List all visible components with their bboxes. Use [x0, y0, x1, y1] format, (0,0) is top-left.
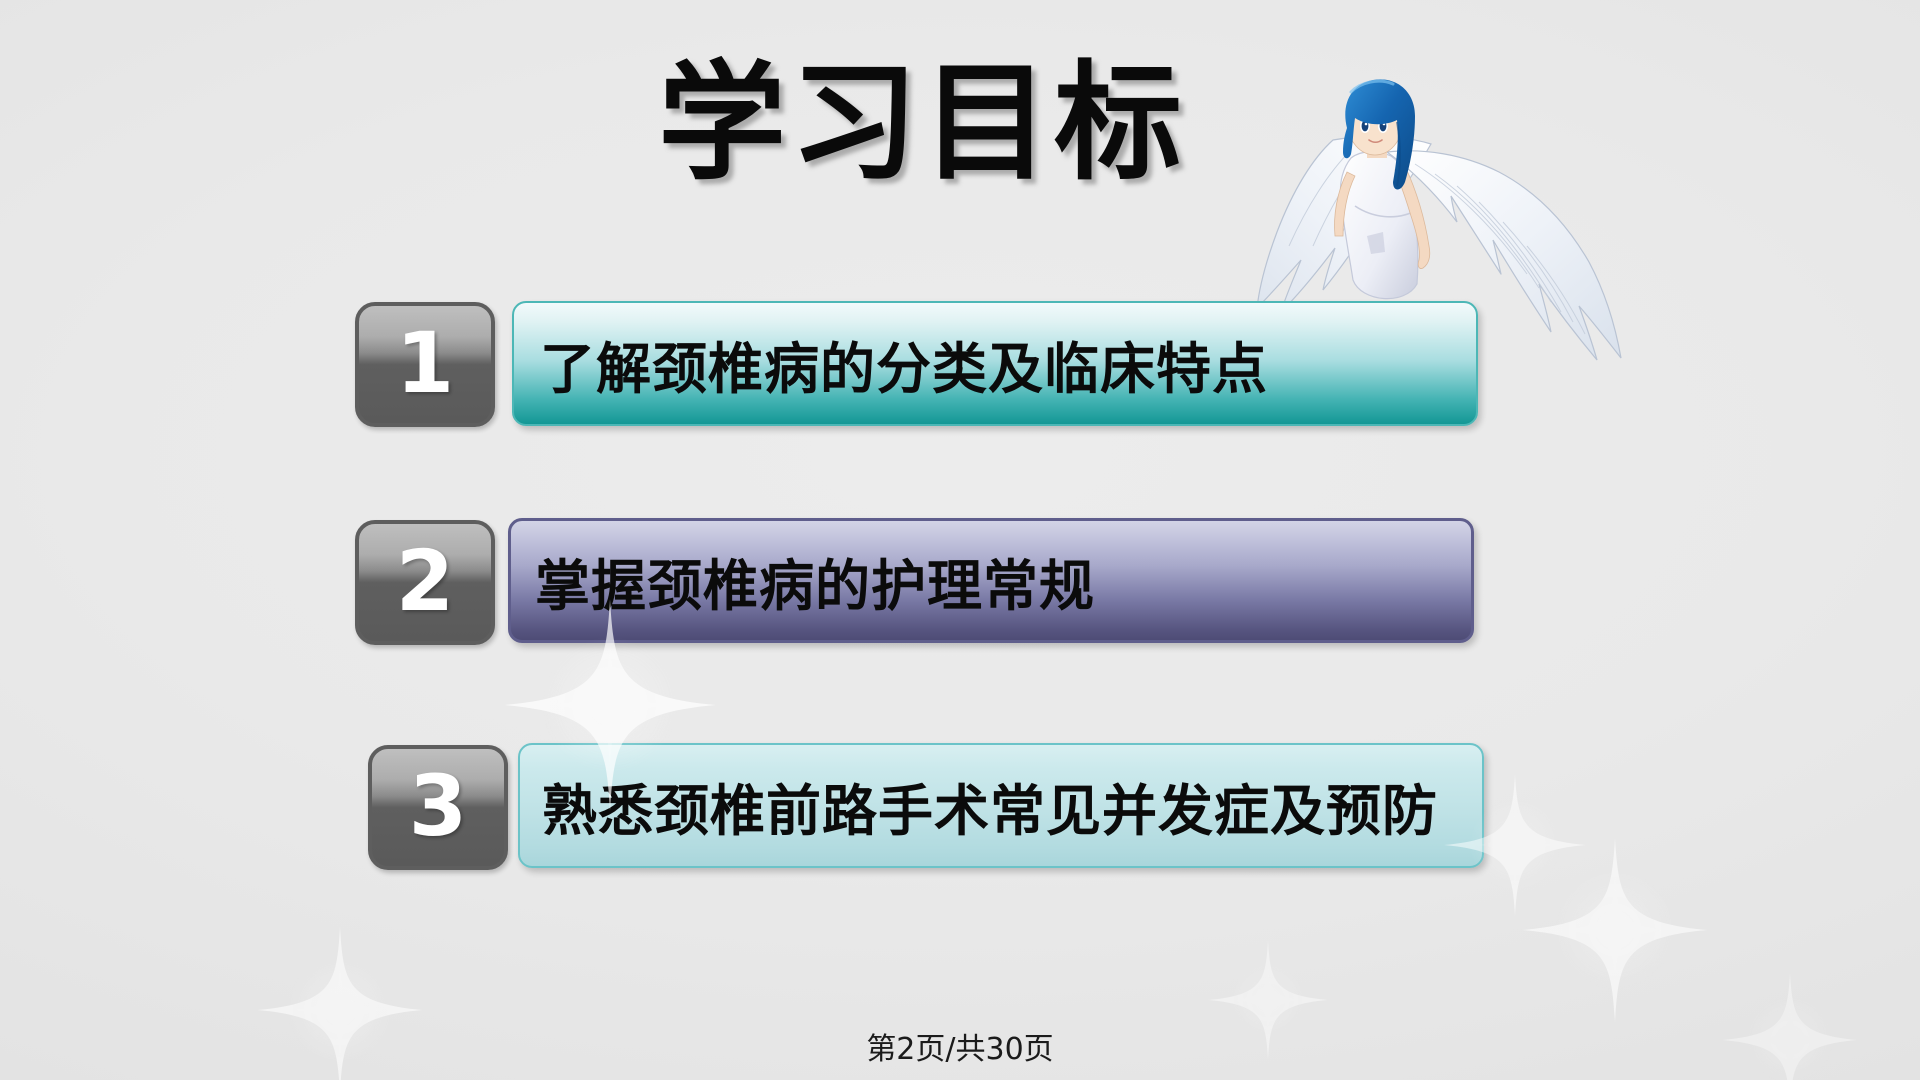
page-number-footer: 第2页/共30页: [0, 1024, 1920, 1068]
objective-number-badge[interactable]: 1: [355, 302, 495, 427]
objective-number: 1: [396, 321, 454, 405]
objective-bar[interactable]: 熟悉颈椎前路手术常见并发症及预防: [518, 743, 1484, 868]
objective-row: 1 了解颈椎病的分类及临床特点: [0, 300, 1920, 428]
objective-text: 了解颈椎病的分类及临床特点: [540, 324, 1268, 404]
objective-bar[interactable]: 了解颈椎病的分类及临床特点: [512, 301, 1478, 426]
objective-number: 3: [409, 764, 467, 848]
page-title: 学习目标: [612, 52, 1232, 195]
objective-bar[interactable]: 掌握颈椎病的护理常规: [508, 518, 1474, 643]
objective-text: 掌握颈椎病的护理常规: [535, 541, 1095, 621]
presentation-slide: 学习目标: [0, 0, 1920, 1080]
objective-number-badge[interactable]: 2: [355, 520, 495, 645]
objective-number: 2: [396, 539, 454, 623]
objective-row: 3 熟悉颈椎前路手术常见并发症及预防: [0, 745, 1920, 873]
objective-number-badge[interactable]: 3: [368, 745, 508, 870]
objective-row: 2 掌握颈椎病的护理常规: [0, 518, 1920, 646]
objective-text: 熟悉颈椎前路手术常见并发症及预防: [542, 766, 1438, 846]
wing-left-icon: [1257, 137, 1431, 312]
